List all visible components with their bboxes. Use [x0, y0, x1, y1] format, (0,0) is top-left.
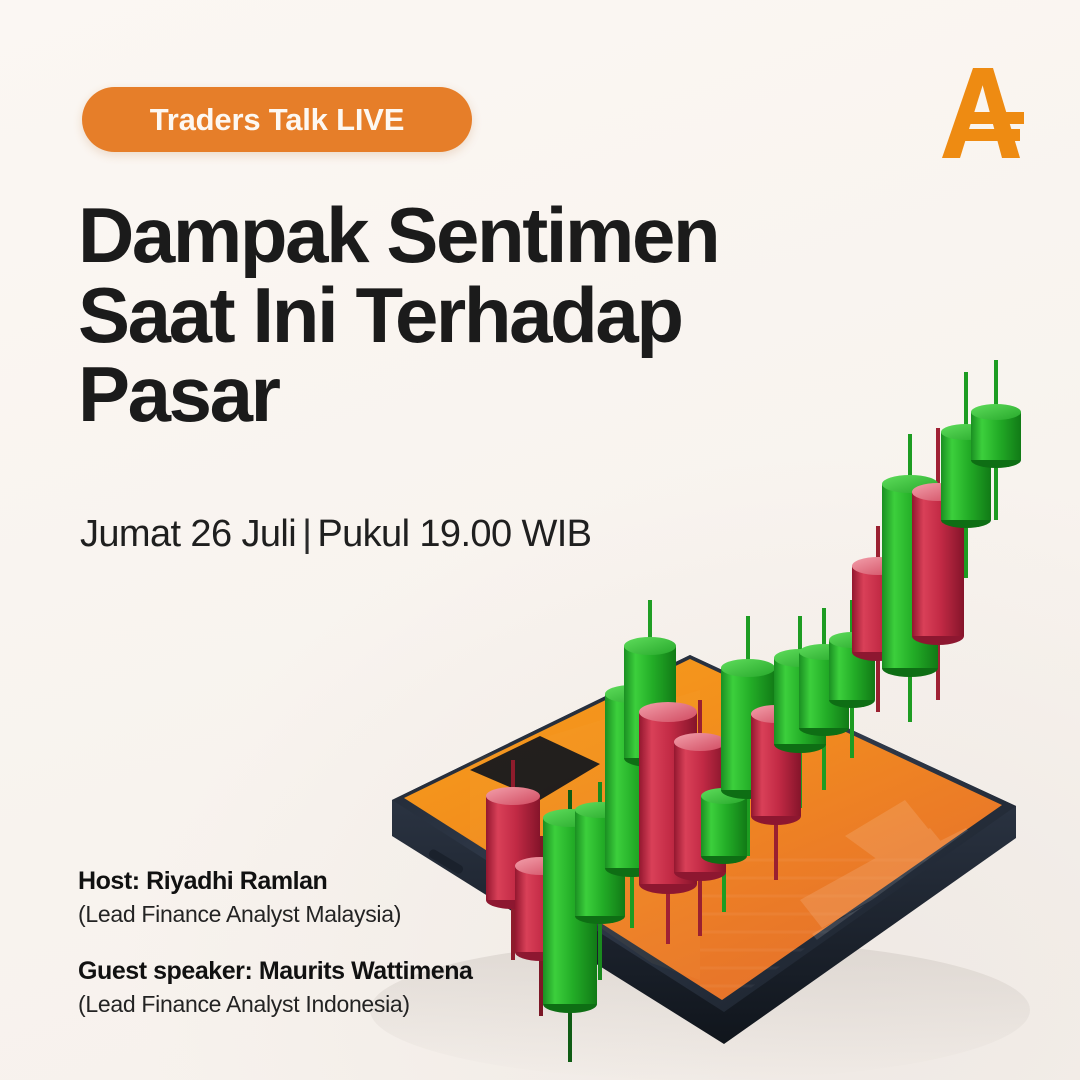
- title-line-3: Pasar: [78, 355, 798, 435]
- event-time: Pukul 19.00 WIB: [317, 513, 591, 555]
- guest-role: (Lead Finance Analyst Indonesia): [78, 990, 473, 1020]
- event-datetime: Jumat 26 Juli|Pukul 19.00 WIB: [80, 513, 591, 556]
- title-line-2: Saat Ini Terhadap: [78, 276, 798, 356]
- live-badge: Traders Talk LIVE: [82, 87, 472, 152]
- promo-poster: Traders Talk LIVE Dampak Sentimen Saat I…: [0, 0, 1080, 1080]
- title-line-1: Dampak Sentimen: [78, 196, 798, 276]
- event-date: Jumat 26 Juli: [80, 513, 296, 555]
- guest-name: Guest speaker: Maurits Wattimena: [78, 956, 473, 987]
- datetime-separator: |: [296, 513, 317, 556]
- page-title: Dampak Sentimen Saat Ini Terhadap Pasar: [78, 196, 798, 435]
- host-role: (Lead Finance Analyst Malaysia): [78, 900, 473, 930]
- brand-a-logo: [932, 62, 1036, 162]
- credits: Host: Riyadhi Ramlan (Lead Finance Analy…: [78, 866, 473, 1020]
- host-credit: Host: Riyadhi Ramlan (Lead Finance Analy…: [78, 866, 473, 930]
- guest-credit: Guest speaker: Maurits Wattimena (Lead F…: [78, 956, 473, 1020]
- live-badge-label: Traders Talk LIVE: [150, 102, 404, 138]
- host-name: Host: Riyadhi Ramlan: [78, 866, 473, 897]
